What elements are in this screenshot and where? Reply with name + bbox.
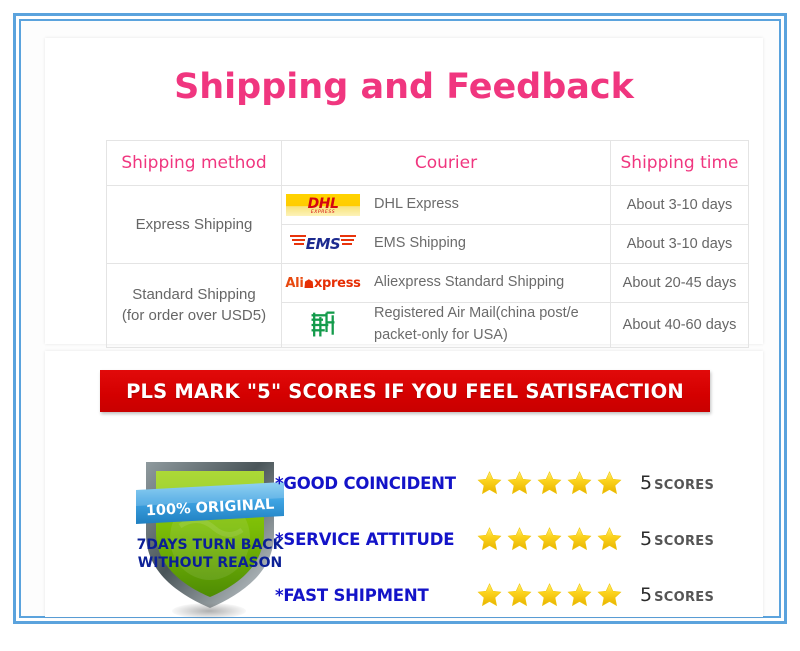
shipping-method-line-1: Standard Shipping <box>132 286 255 303</box>
logo-slot: Ali☗xpress <box>282 270 364 296</box>
rating-score-number: 5 <box>640 472 652 494</box>
shopping-cart-icon: ☗ <box>304 277 314 291</box>
column-header-courier: Courier <box>282 141 611 186</box>
courier-name: EMS Shipping <box>374 233 466 255</box>
rating-score-number: 5 <box>640 584 652 606</box>
courier-cell: EMS EMS Shipping <box>282 225 611 264</box>
star-icon <box>475 525 504 553</box>
column-header-shipping-time: Shipping time <box>611 141 749 186</box>
aliexpress-logo-xpress: xpress <box>314 276 361 291</box>
shipping-time-cell: About 20-45 days <box>611 264 749 303</box>
rating-stars <box>475 469 624 497</box>
rating-label: *GOOD COINCIDENT <box>275 474 471 493</box>
rating-score-number: 5 <box>640 528 652 550</box>
rating-score: 5 SCORES <box>640 528 714 550</box>
star-icon <box>505 525 534 553</box>
shipping-time-cell: About 3-10 days <box>611 186 749 225</box>
star-icon <box>535 581 564 609</box>
star-icon <box>475 581 504 609</box>
star-icon <box>565 525 594 553</box>
shield-body-line-1: 7DAYS TURN BACK <box>137 537 285 553</box>
logo-slot <box>282 312 364 338</box>
rating-score-word: SCORES <box>654 590 714 605</box>
star-icon <box>595 581 624 609</box>
star-icon <box>595 525 624 553</box>
feedback-card: PLS MARK "5" SCORES IF YOU FEEL SATISFAC… <box>45 351 763 617</box>
courier-name: Registered Air Mail(china post/e packet-… <box>374 303 610 347</box>
satisfaction-banner: PLS MARK "5" SCORES IF YOU FEEL SATISFAC… <box>100 370 710 412</box>
rating-score-word: SCORES <box>654 534 714 549</box>
page-frame-inner-border: Shipping and Feedback Shipping method Co… <box>19 19 781 618</box>
shipping-method-line-2: (for order over USD5) <box>122 307 266 324</box>
star-icon <box>535 469 564 497</box>
star-icon <box>505 581 534 609</box>
rating-stars <box>475 581 624 609</box>
rating-row-good-coincident: *GOOD COINCIDENT 5 SCORES <box>275 466 714 500</box>
star-icon <box>565 581 594 609</box>
aliexpress-logo: Ali☗xpress <box>282 274 364 292</box>
shipping-time-cell: About 40-60 days <box>611 303 749 348</box>
rating-stars <box>475 525 624 553</box>
courier-cell: Ali☗xpress Aliexpress Standard Shipping <box>282 264 611 303</box>
shield-body-line-2: WITHOUT REASON <box>138 555 283 571</box>
rating-label: *SERVICE ATTITUDE <box>275 530 471 549</box>
dhl-logo: DHL EXPRESS <box>286 194 360 216</box>
satisfaction-banner-text: PLS MARK "5" SCORES IF YOU FEEL SATISFAC… <box>126 380 684 403</box>
shield-shadow <box>172 603 246 619</box>
table-row: Express Shipping DHL EXPRESS DHL Express <box>107 186 749 225</box>
star-icon <box>505 469 534 497</box>
logo-slot: DHL EXPRESS <box>282 192 364 218</box>
shipping-table: Shipping method Courier Shipping time Ex… <box>106 140 749 348</box>
courier-name: Aliexpress Standard Shipping <box>374 272 564 294</box>
ems-logo: EMS <box>286 232 360 256</box>
china-post-logo <box>305 310 341 340</box>
dhl-logo-text: DHL <box>308 197 339 211</box>
star-icon <box>595 469 624 497</box>
rating-row-fast-shipment: *FAST SHIPMENT 5 SCORES <box>275 578 714 612</box>
page-title: Shipping and Feedback <box>45 67 763 107</box>
shipping-method-cell: Standard Shipping (for order over USD5) <box>107 264 282 348</box>
shipping-method-cell: Express Shipping <box>107 186 282 264</box>
rating-score: 5 SCORES <box>640 472 714 494</box>
shield-icon: 100% ORIGINAL 7DAYS TURN BACK WITHOUT RE… <box>130 446 290 616</box>
courier-name: DHL Express <box>374 194 459 216</box>
column-header-shipping-method: Shipping method <box>107 141 282 186</box>
shipping-card: Shipping and Feedback Shipping method Co… <box>45 38 763 344</box>
rating-label: *FAST SHIPMENT <box>275 586 471 605</box>
star-icon <box>535 525 564 553</box>
rating-score: 5 SCORES <box>640 584 714 606</box>
shipping-time-cell: About 3-10 days <box>611 225 749 264</box>
page-frame: Shipping and Feedback Shipping method Co… <box>13 13 787 624</box>
star-icon <box>475 469 504 497</box>
courier-cell: DHL EXPRESS DHL Express <box>282 186 611 225</box>
aliexpress-logo-ali: Ali <box>285 276 303 291</box>
rating-row-service-attitude: *SERVICE ATTITUDE 5 SCORES <box>275 522 714 556</box>
table-header-row: Shipping method Courier Shipping time <box>107 141 749 186</box>
rating-score-word: SCORES <box>654 478 714 493</box>
ems-logo-text: EMS <box>286 235 360 253</box>
dhl-logo-subtext: EXPRESS <box>286 210 360 215</box>
star-icon <box>565 469 594 497</box>
guarantee-shield-badge: 100% ORIGINAL 7DAYS TURN BACK WITHOUT RE… <box>130 446 290 621</box>
logo-slot: EMS <box>282 231 364 257</box>
courier-cell: Registered Air Mail(china post/e packet-… <box>282 303 611 348</box>
table-row: Standard Shipping (for order over USD5) … <box>107 264 749 303</box>
